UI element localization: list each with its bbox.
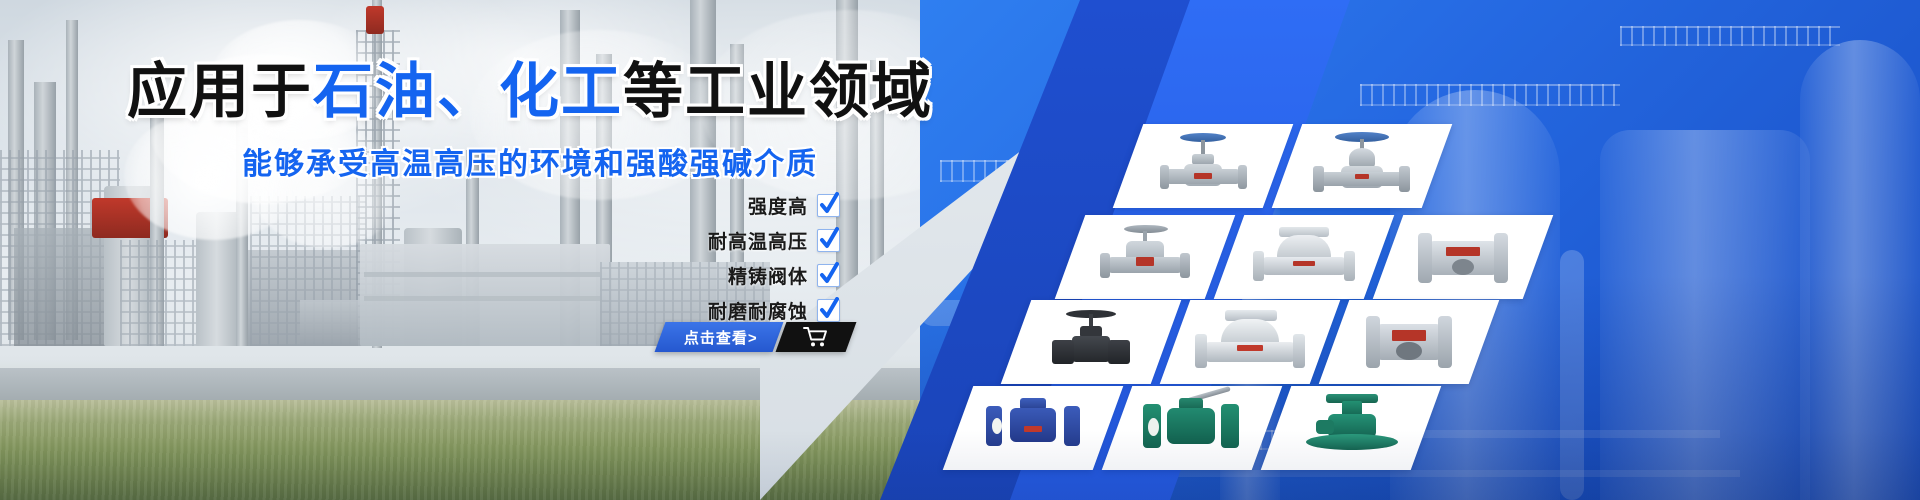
headline-part-3: 等工业领域: [623, 58, 933, 125]
feature-item-cast-body: 精铸阀体: [728, 262, 840, 289]
product-tile-gate-valve-grey[interactable]: [1055, 215, 1236, 299]
plant-pipe: [364, 296, 606, 301]
feature-list: 强度高 耐高温高压 精铸阀体 耐磨耐腐蚀: [640, 192, 840, 324]
cta-button-group[interactable]: 点击查看>: [660, 322, 851, 352]
product-tile-globe-valve-flanged[interactable]: [1272, 124, 1453, 208]
product-tile-gate-valve-handwheel[interactable]: [1113, 124, 1294, 208]
product-tile-lined-ball-valve-blue[interactable]: [943, 386, 1124, 470]
tile-row-4: [958, 386, 1426, 470]
feature-label: 强度高: [748, 192, 808, 219]
tile-row-2: [1070, 215, 1538, 299]
plant-building: [360, 244, 610, 346]
product-tile-grid: [1010, 0, 1670, 500]
headline-block: 应用于石油、化工等工业领域 能够承受高温高压的环境和强酸强碱介质: [0, 60, 1060, 183]
page-subtitle: 能够承受高温高压的环境和强酸强碱介质: [0, 139, 1060, 183]
derrick-top-marker: [366, 6, 384, 34]
product-tile-wafer-check-valve-steel[interactable]: [1319, 300, 1500, 384]
product-tile-swing-check-valve-white[interactable]: [1214, 215, 1395, 299]
tile-row-1: [1128, 124, 1437, 208]
check-icon: [817, 299, 840, 322]
feature-label: 耐磨耐腐蚀: [708, 297, 808, 324]
product-tile-stainless-flanged-fitting[interactable]: [1373, 215, 1554, 299]
shopping-cart-icon: [803, 326, 829, 348]
feature-item-wear-corrosion: 耐磨耐腐蚀: [708, 297, 840, 324]
product-tile-check-valve-dn80[interactable]: [1160, 300, 1341, 384]
feature-label: 精铸阀体: [728, 262, 808, 289]
check-icon: [817, 264, 840, 287]
product-tile-forged-steel-valve-black[interactable]: [1001, 300, 1182, 384]
refinery-structure: [14, 228, 110, 346]
feature-item-high-temp-pressure: 耐高温高压: [708, 227, 840, 254]
plant-pipe: [364, 272, 606, 277]
cart-button[interactable]: [775, 322, 856, 352]
headline-part-1: 应用于: [127, 58, 313, 125]
cta-label: 点击查看>: [684, 327, 758, 348]
feature-item-strength: 强度高: [748, 192, 840, 219]
promo-banner: 应用于石油、化工等工业领域 能够承受高温高压的环境和强酸强碱介质 强度高 耐高温…: [0, 0, 1920, 500]
headline-part-2-accent: 石油、化工: [313, 58, 623, 125]
view-details-button[interactable]: 点击查看>: [655, 322, 784, 352]
feature-label: 耐高温高压: [708, 227, 808, 254]
check-icon: [817, 194, 840, 217]
tile-row-3: [1016, 300, 1484, 384]
product-tile-flanged-plug-valve-green[interactable]: [1261, 386, 1442, 470]
product-tile-lever-ball-valve-green[interactable]: [1102, 386, 1283, 470]
check-icon: [817, 229, 840, 252]
page-title: 应用于石油、化工等工业领域: [0, 60, 1060, 123]
